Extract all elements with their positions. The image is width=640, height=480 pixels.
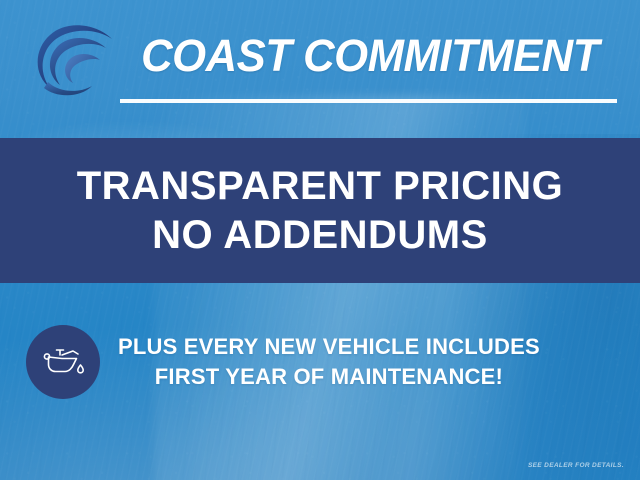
disclaimer-text: SEE DEALER FOR DETAILS. <box>528 462 624 469</box>
oil-can-icon <box>26 325 100 399</box>
headline-line-2: NO ADDENDUMS <box>152 214 488 256</box>
headline-line-1: TRANSPARENT PRICING <box>77 165 564 207</box>
header-divider <box>120 99 617 103</box>
promo-text: PLUS EVERY NEW VEHICLE INCLUDES FIRST YE… <box>118 334 540 390</box>
promo-section: PLUS EVERY NEW VEHICLE INCLUDES FIRST YE… <box>0 283 640 480</box>
promo-content: PLUS EVERY NEW VEHICLE INCLUDES FIRST YE… <box>26 325 540 399</box>
coast-wave-swirl-logo-icon <box>26 22 118 96</box>
promo-line-1: PLUS EVERY NEW VEHICLE INCLUDES <box>118 334 540 360</box>
banner-header: COAST COMMITMENT <box>0 0 640 138</box>
coast-commitment-banner: COAST COMMITMENT TRANSPARENT PRICING NO … <box>0 0 640 480</box>
promo-line-2: FIRST YEAR OF MAINTENANCE! <box>118 364 540 390</box>
headline-band: TRANSPARENT PRICING NO ADDENDUMS <box>0 138 640 283</box>
brand-title: COAST COMMITMENT <box>128 22 613 88</box>
